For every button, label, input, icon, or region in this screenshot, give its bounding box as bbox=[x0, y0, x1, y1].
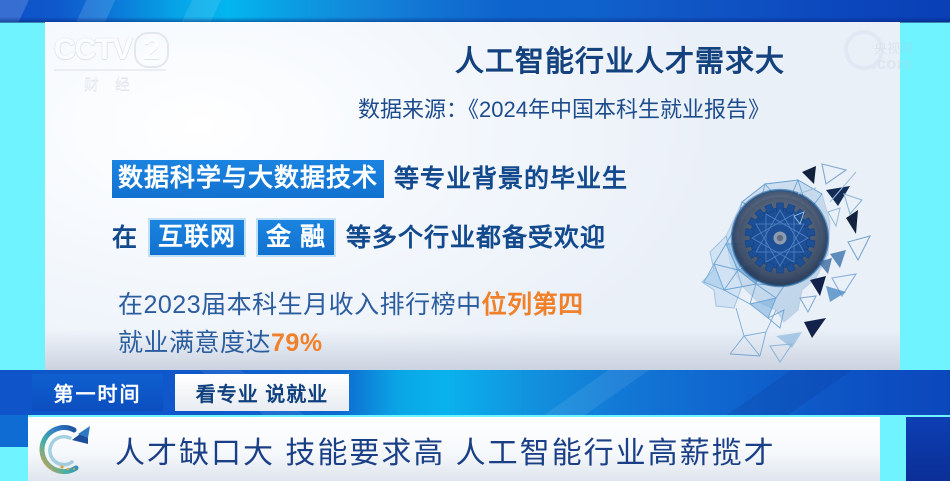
cctv-finance-swirl-logo bbox=[38, 420, 100, 478]
ticker-right-cyan-block bbox=[880, 417, 906, 481]
ticker-left-blue-block bbox=[0, 415, 28, 447]
content-line-2: 在 互联网 金 融 等多个行业都备受欢迎 bbox=[112, 218, 606, 257]
cctv-subtitle: 财经 bbox=[52, 73, 178, 94]
page-title: 人工智能行业人才需求大 bbox=[455, 38, 785, 80]
data-source-line: 数据来源：《2024年中国本科生就业报告》 bbox=[358, 92, 770, 124]
cctv-underline bbox=[54, 69, 166, 71]
broadcast-frame: CCTV2 财经 人工智能行业人才需求大 数据来源：《2024年中国本科生就业报… bbox=[0, 0, 950, 481]
content-line-3-accent: 位列第四 bbox=[482, 291, 584, 319]
content-line-3-prefix: 在2023届本科生月收入排行榜中 bbox=[118, 291, 482, 319]
cctv2-channel-logo: CCTV2 财经 bbox=[52, 32, 178, 94]
content-line-4: 就业满意度达79% bbox=[118, 323, 323, 359]
content-line-1-tail: 等专业背景的毕业生 bbox=[394, 164, 628, 194]
ticker-headline: 人才缺口大 技能要求高 人工智能行业高薪揽才 bbox=[115, 428, 776, 472]
segment-tag[interactable]: 看专业 说就业 bbox=[175, 374, 349, 411]
content-line-1: 数据科学与大数据技术 等专业背景的毕业生 bbox=[112, 160, 628, 198]
program-tag[interactable]: 第一时间 bbox=[32, 374, 163, 411]
content-line-2-lead: 在 bbox=[112, 223, 138, 253]
cctv-letters: CCTV bbox=[54, 33, 132, 66]
content-line-3: 在2023届本科生月收入排行榜中位列第四 bbox=[118, 285, 584, 321]
highlight-industry-finance: 金 融 bbox=[256, 218, 336, 257]
content-line-4-accent: 79% bbox=[271, 329, 323, 357]
ai-head-gear-illustration bbox=[680, 150, 880, 365]
highlight-industry-internet: 互联网 bbox=[148, 218, 246, 257]
ticker-right-dark-block bbox=[906, 417, 950, 481]
content-line-4-prefix: 就业满意度达 bbox=[118, 329, 271, 357]
cctv-wordmark: CCTV2 bbox=[52, 32, 178, 68]
gear-iris bbox=[745, 203, 815, 273]
highlight-major-data-science: 数据科学与大数据技术 bbox=[112, 160, 384, 198]
cctv-channel-number: 2 bbox=[134, 32, 170, 68]
content-line-2-tail: 等多个行业都备受欢迎 bbox=[346, 223, 606, 253]
